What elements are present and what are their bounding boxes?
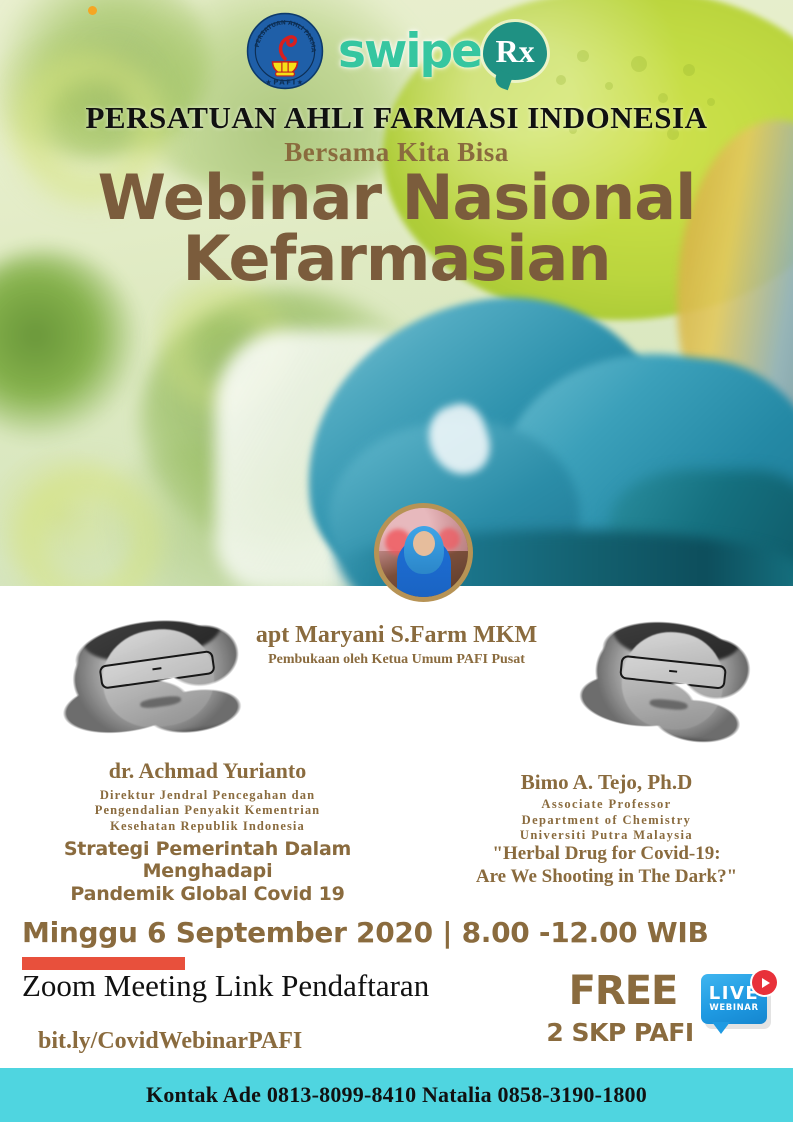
swiperx-logo: swipe Rx bbox=[338, 22, 547, 80]
topic-line: Are We Shooting in The Dark?" bbox=[420, 866, 793, 889]
organization-title: PERSATUAN AHLI FARMASI INDONESIA bbox=[0, 100, 793, 136]
badge-webinar-label: WEBINAR bbox=[709, 1003, 758, 1013]
swipe-dot-icon bbox=[88, 6, 97, 15]
affiliation-line: Kesehatan Republik Indonesia bbox=[0, 819, 415, 834]
topic-line: Strategi Pemerintah Dalam Menghadapi bbox=[0, 838, 415, 883]
svg-text:★PAFI★: ★PAFI★ bbox=[265, 78, 304, 87]
center-speaker-avatar bbox=[374, 503, 473, 602]
pafi-logo-icon: ★PAFI★ PERSATUAN AHLI FARMASI INDONESIA bbox=[246, 12, 324, 90]
credits-label: 2 SKP PAFI bbox=[540, 1018, 700, 1047]
affiliation-line: Universiti Putra Malaysia bbox=[420, 828, 793, 844]
speaker-left-affiliation: Direktur Jendral Pencegahan dan Pengenda… bbox=[0, 788, 415, 834]
rx-bubble-icon: Rx bbox=[483, 22, 547, 80]
price-label: FREE bbox=[548, 968, 698, 1014]
affiliation-line: Direktur Jendral Pencegahan dan bbox=[0, 788, 415, 803]
registration-label: Zoom Meeting Link Pendaftaran bbox=[22, 968, 429, 1004]
logo-row: ★PAFI★ PERSATUAN AHLI FARMASI INDONESIA … bbox=[0, 8, 793, 94]
portrait-image bbox=[551, 581, 789, 783]
speaker-left-photo bbox=[25, 574, 288, 786]
speaker-left-name: dr. Achmad Yurianto bbox=[0, 758, 415, 784]
live-webinar-badge: LIVE WEBINAR bbox=[700, 973, 776, 1039]
badge-live-label: LIVE bbox=[709, 985, 759, 1003]
webinar-poster: ★PAFI★ PERSATUAN AHLI FARMASI INDONESIA … bbox=[0, 0, 793, 1122]
page-title: Webinar Nasional Kefarmasian bbox=[0, 168, 793, 290]
registration-link[interactable]: bit.ly/CovidWebinarPAFI bbox=[38, 1028, 302, 1055]
speaker-right-topic: "Herbal Drug for Covid-19: Are We Shooti… bbox=[420, 843, 793, 889]
affiliation-line: Associate Professor bbox=[420, 797, 793, 813]
speaker-right-photo bbox=[551, 581, 789, 783]
rx-label: Rx bbox=[495, 35, 534, 67]
avatar-face bbox=[413, 531, 435, 556]
play-button-icon bbox=[752, 970, 777, 995]
affiliation-line: Department of Chemistry bbox=[420, 813, 793, 829]
speaker-right-name: Bimo A. Tejo, Ph.D bbox=[420, 770, 793, 795]
topic-line: Pandemik Global Covid 19 bbox=[0, 883, 415, 905]
event-datetime: Minggu 6 September 2020 | 8.00 -12.00 WI… bbox=[22, 916, 709, 949]
topic-line: "Herbal Drug for Covid-19: bbox=[420, 843, 793, 866]
swipe-wordmark: swipe bbox=[338, 28, 481, 75]
footer-contact-bar: Kontak Ade 0813-8099-8410 Natalia 0858-3… bbox=[0, 1068, 793, 1122]
portrait-image bbox=[25, 574, 288, 786]
affiliation-line: Pengendalian Penyakit Kementrian bbox=[0, 803, 415, 818]
speaker-left-topic: Strategi Pemerintah Dalam Menghadapi Pan… bbox=[0, 838, 415, 905]
title-line-2: Kefarmasian bbox=[0, 229, 793, 290]
contact-text: Kontak Ade 0813-8099-8410 Natalia 0858-3… bbox=[146, 1082, 647, 1108]
speaker-right-affiliation: Associate Professor Department of Chemis… bbox=[420, 797, 793, 844]
